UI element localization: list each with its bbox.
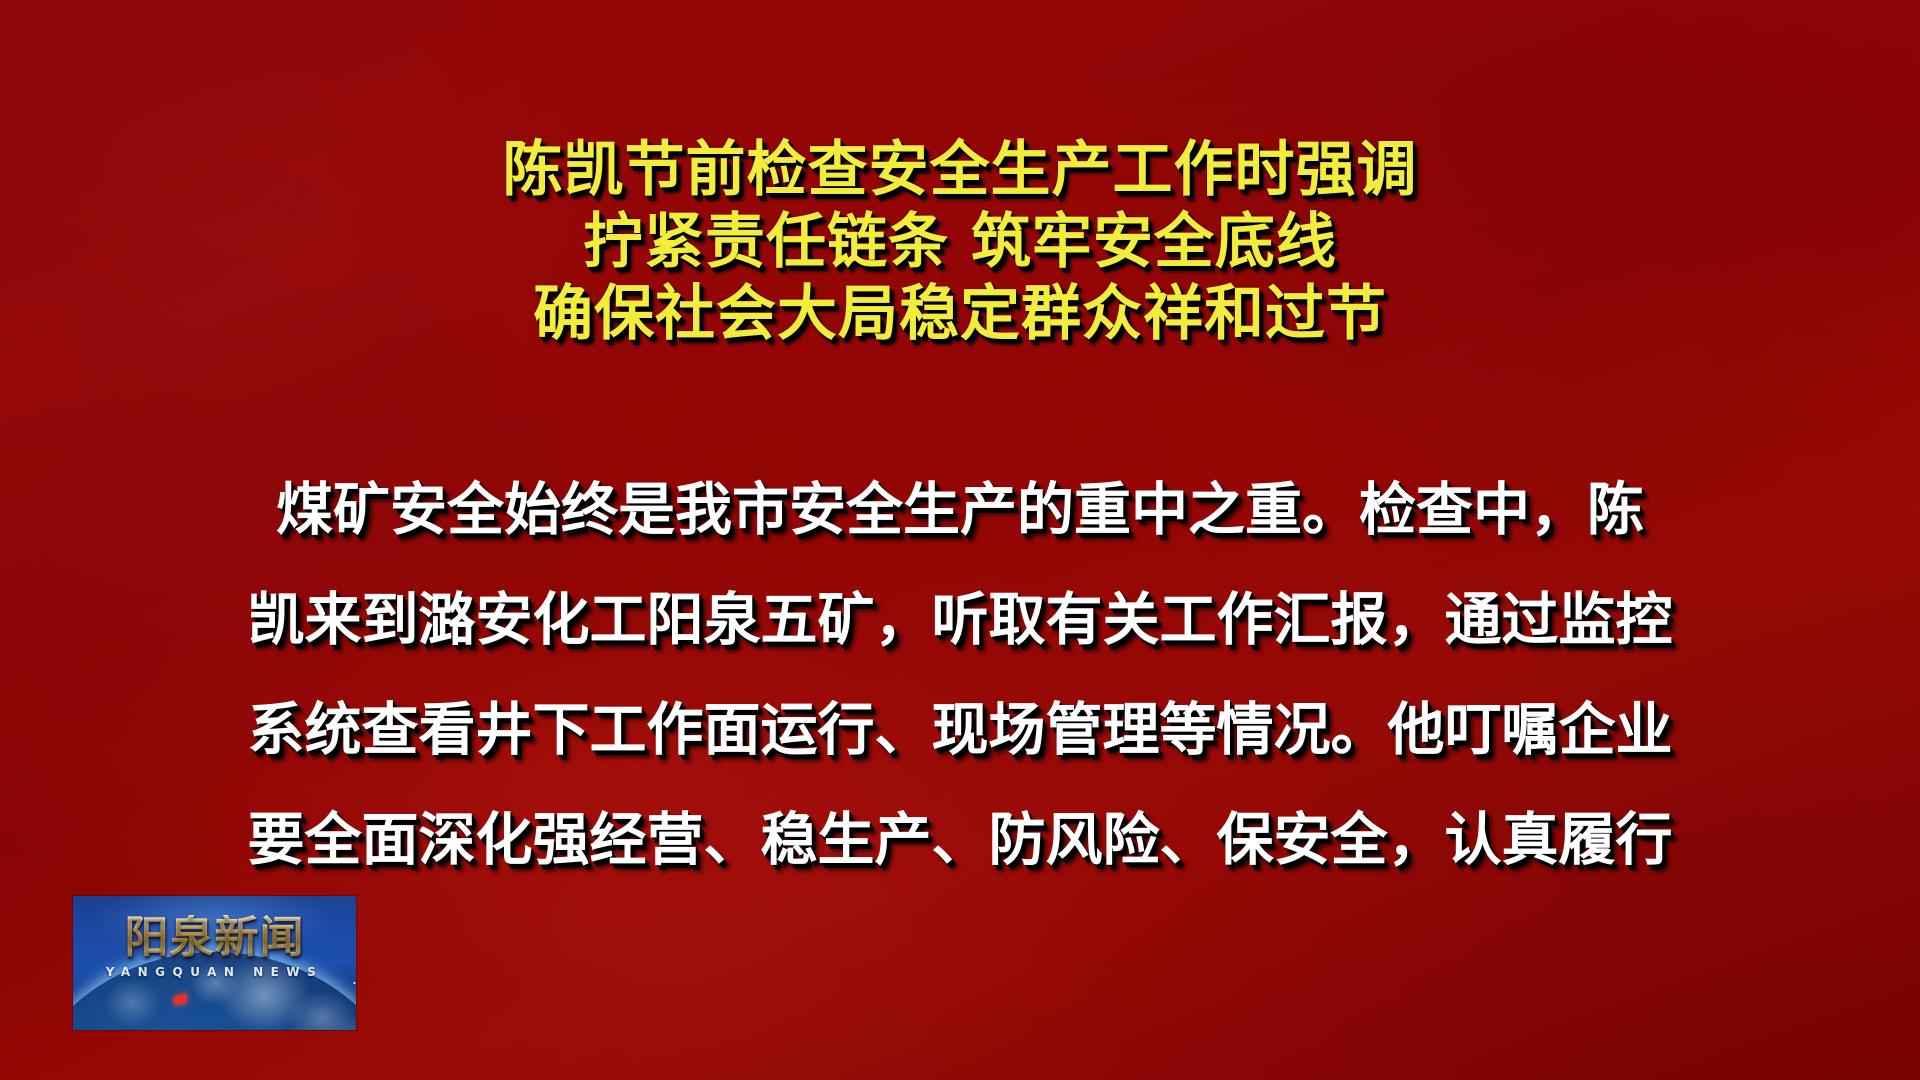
broadcast-lower-third-screen: 陈凯节前检查安全生产工作时强调 拧紧责任链条 筑牢安全底线 确保社会大局稳定群众… <box>0 0 1920 1080</box>
station-logo-title: 阳泉新闻 <box>73 915 356 961</box>
body-line-3: 系统查看井下工作面运行、现场管理等情况。他叮嘱企业 <box>0 675 1920 785</box>
station-logo: 阳泉新闻 YANGQUAN NEWS <box>73 896 356 1030</box>
headline-line-2: 拧紧责任链条 筑牢安全底线 <box>0 206 1920 278</box>
headline-line-3: 确保社会大局稳定群众祥和过节 <box>0 278 1920 350</box>
body-line-4: 要全面深化强经营、稳生产、防风险、保安全，认真履行 <box>0 785 1920 895</box>
body-copy-block: 煤矿安全始终是我市安全生产的重中之重。检查中，陈 凯来到潞安化工阳泉五矿，听取有… <box>0 455 1920 895</box>
body-line-2: 凯来到潞安化工阳泉五矿，听取有关工作汇报，通过监控 <box>0 565 1920 675</box>
station-logo-subtitle: YANGQUAN NEWS <box>73 965 356 979</box>
headline-block: 陈凯节前检查安全生产工作时强调 拧紧责任链条 筑牢安全底线 确保社会大局稳定群众… <box>0 134 1920 350</box>
body-line-1: 煤矿安全始终是我市安全生产的重中之重。检查中，陈 <box>0 455 1920 565</box>
headline-line-1: 陈凯节前检查安全生产工作时强调 <box>0 134 1920 206</box>
